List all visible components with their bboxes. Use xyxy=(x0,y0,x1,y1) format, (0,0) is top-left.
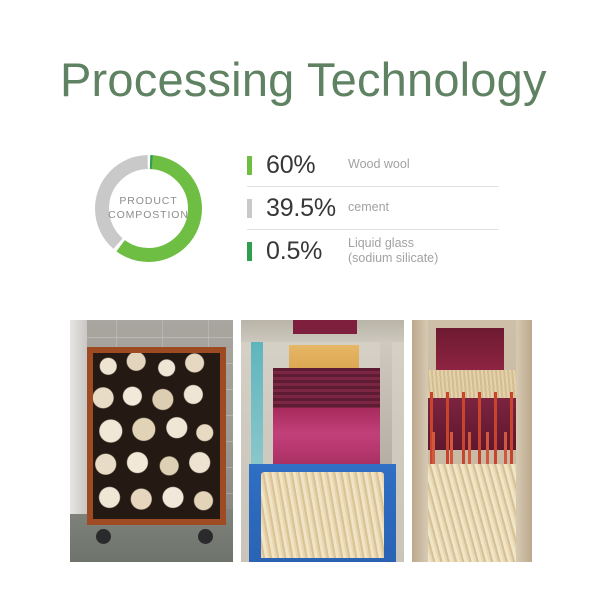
photo1-caster-wheel-right xyxy=(198,529,213,544)
photo3-upper-red-housing xyxy=(436,328,504,370)
photo3-left-wall xyxy=(412,320,428,562)
legend-percent-wood-wool: 60% xyxy=(266,151,348,180)
legend-label-wood-wool: Wood wool xyxy=(348,157,410,172)
photo2-left-frame xyxy=(251,342,263,472)
legend-percent-liquid-glass: 0.5% xyxy=(266,237,348,266)
process-photo-strip xyxy=(70,320,532,562)
photo-wood-wool-shredder-conveyor xyxy=(241,320,404,562)
photo2-magenta-hopper xyxy=(273,408,381,466)
photo1-caster-wheel-left xyxy=(96,529,111,544)
legend-swatch-liquid-glass xyxy=(247,242,252,261)
photo2-ribbed-drum xyxy=(273,368,381,410)
photo1-stacked-log-ends xyxy=(93,353,220,519)
legend-swatch-wood-wool xyxy=(247,156,252,175)
photo-stacked-logs-in-steel-cart xyxy=(70,320,233,562)
legend-row-liquid-glass: 0.5% Liquid glass (sodium silicate) xyxy=(247,229,499,272)
photo2-upper-red-housing xyxy=(293,320,357,334)
legend-percent-cement: 39.5% xyxy=(266,194,348,223)
legend-label-liquid-glass-line-1: Liquid glass xyxy=(348,236,438,251)
photo1-left-post xyxy=(70,320,87,514)
legend-row-cement: 39.5% cement xyxy=(247,186,499,229)
donut-svg xyxy=(90,150,207,267)
photo2-right-frame xyxy=(380,342,392,472)
photo3-spread-wood-wool xyxy=(424,464,520,562)
legend-label-cement-line-1: cement xyxy=(348,200,389,214)
page-title: Processing Technology xyxy=(60,54,547,106)
legend-label-wood-wool-line-1: Wood wool xyxy=(348,157,410,171)
legend-label-liquid-glass-line-2: (sodium silicate) xyxy=(348,251,438,266)
photo-spiked-drum-spreader xyxy=(412,320,532,562)
legend-label-liquid-glass: Liquid glass (sodium silicate) xyxy=(348,236,438,267)
legend-row-wood-wool: 60% Wood wool xyxy=(247,144,499,186)
legend-label-cement: cement xyxy=(348,200,389,215)
legend-swatch-cement xyxy=(247,199,252,218)
photo3-right-wall xyxy=(516,320,532,562)
product-composition-donut-chart: PRODUCT COMPOSTION xyxy=(90,150,207,267)
photo2-wood-wool-output xyxy=(261,472,384,558)
composition-legend: 60% Wood wool 39.5% cement 0.5% Liquid g… xyxy=(247,144,499,272)
